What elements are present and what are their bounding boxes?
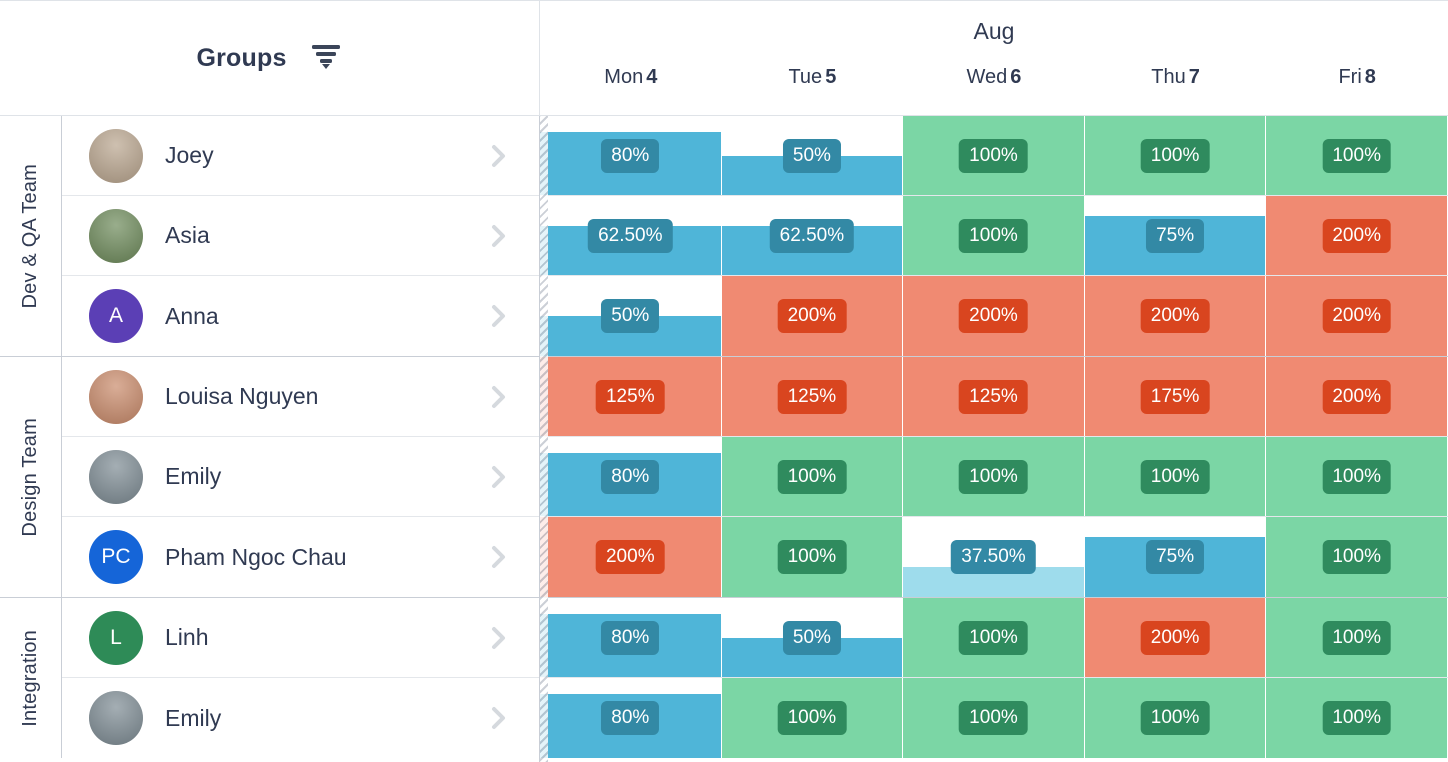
month-row: Aug (540, 1, 1448, 62)
workload-cell[interactable]: 75% (1085, 517, 1267, 597)
timeline-pane: 80%50%100%100%100%62.50%62.50%100%75%200… (540, 116, 1448, 762)
workload-cell[interactable]: 100% (903, 196, 1085, 275)
person-name: Louisa Nguyen (165, 383, 489, 410)
day-number: 8 (1365, 66, 1376, 88)
person-row[interactable]: Asia (62, 196, 539, 276)
person-name: Emily (165, 463, 489, 490)
workload-badge: 100% (959, 701, 1028, 735)
calendar-header: Groups Aug Mon4Tue5Wed6Thu7Fri8 (0, 0, 1448, 116)
day-number: 4 (646, 66, 657, 88)
timeline-group-integration: 80%50%100%200%100%80%100%100%100%100% (540, 598, 1448, 758)
workload-badge: 62.50% (770, 219, 854, 253)
avatar[interactable]: PC (89, 530, 143, 584)
person-name: Emily (165, 705, 489, 732)
person-row[interactable]: PCPham Ngoc Chau (62, 517, 539, 597)
workload-cell[interactable]: 50% (722, 598, 904, 677)
person-name: Anna (165, 303, 489, 330)
workload-cell[interactable]: 100% (903, 116, 1085, 195)
timeline-row: 80%100%100%100%100% (540, 437, 1448, 517)
group-design-team: Design TeamLouisa NguyenEmilyPCPham Ngoc… (0, 357, 539, 598)
workload-badge: 100% (1322, 139, 1391, 173)
group-name: Dev & QA Team (19, 164, 42, 309)
workload-badge: 200% (1322, 299, 1391, 333)
workload-cell[interactable]: 50% (540, 276, 722, 356)
workload-cell[interactable]: 100% (722, 517, 904, 597)
chevron-right-icon[interactable] (489, 544, 509, 570)
group-people: LLinhEmily (62, 598, 539, 758)
chevron-right-icon[interactable] (489, 384, 509, 410)
chevron-right-icon[interactable] (489, 464, 509, 490)
workload-cell[interactable]: 100% (722, 437, 904, 516)
avatar-initials: PC (101, 545, 130, 569)
month-label: Aug (974, 18, 1015, 45)
day-of-week: Tue (788, 66, 822, 88)
workload-cell[interactable]: 200% (540, 517, 722, 597)
person-row[interactable]: Emily (62, 437, 539, 517)
day-of-week: Mon (604, 66, 643, 88)
workload-badge: 175% (1141, 380, 1210, 414)
workload-cell[interactable]: 100% (1085, 678, 1267, 758)
workload-badge: 50% (783, 139, 841, 173)
workload-badge: 200% (1322, 219, 1391, 253)
page-title: Groups (196, 44, 286, 73)
workload-calendar: Groups Aug Mon4Tue5Wed6Thu7Fri8 Dev & QA… (0, 0, 1448, 762)
workload-cell[interactable]: 100% (903, 598, 1085, 677)
avatar[interactable]: L (89, 611, 143, 665)
workload-badge: 80% (601, 621, 659, 655)
group-label-integration[interactable]: Integration (0, 598, 62, 758)
workload-cell[interactable]: 100% (1266, 598, 1448, 677)
workload-badge: 200% (1141, 621, 1210, 655)
day-of-week: Fri (1338, 66, 1361, 88)
avatar[interactable] (89, 129, 143, 183)
workload-cell[interactable]: 80% (540, 678, 722, 758)
person-row[interactable]: AAnna (62, 276, 539, 356)
timeline-header: Aug Mon4Tue5Wed6Thu7Fri8 (540, 0, 1448, 115)
group-name: Design Team (19, 418, 42, 537)
chevron-right-icon[interactable] (489, 705, 509, 731)
group-people: Louisa NguyenEmilyPCPham Ngoc Chau (62, 357, 539, 597)
day-of-week: Thu (1151, 66, 1185, 88)
workload-badge: 80% (601, 460, 659, 494)
workload-badge: 80% (601, 139, 659, 173)
workload-badge: 200% (1322, 380, 1391, 414)
workload-badge: 125% (959, 380, 1028, 414)
timeline-group-dev-qa-team: 80%50%100%100%100%62.50%62.50%100%75%200… (540, 116, 1448, 357)
workload-cell[interactable]: 100% (1266, 437, 1448, 516)
workload-badge: 75% (1146, 540, 1204, 574)
workload-badge: 100% (959, 460, 1028, 494)
timeline-row: 200%100%37.50%75%100% (540, 517, 1448, 597)
timeline-row: 62.50%62.50%100%75%200% (540, 196, 1448, 276)
group-integration: IntegrationLLinhEmily (0, 598, 539, 758)
day-number: 7 (1189, 66, 1200, 88)
avatar[interactable] (89, 370, 143, 424)
day-of-week: Wed (967, 66, 1008, 88)
person-name: Joey (165, 142, 489, 169)
workload-cell[interactable]: 200% (1266, 276, 1448, 356)
day-number: 6 (1010, 66, 1021, 88)
workload-badge: 100% (959, 139, 1028, 173)
timeline-grid: 80%50%100%100%100%62.50%62.50%100%75%200… (540, 116, 1448, 758)
workload-cell[interactable]: 100% (1266, 517, 1448, 597)
workload-badge: 100% (1322, 540, 1391, 574)
workload-badge: 100% (778, 540, 847, 574)
timeline-row: 50%200%200%200%200% (540, 276, 1448, 356)
workload-badge: 200% (596, 540, 665, 574)
workload-cell[interactable]: 125% (722, 357, 904, 436)
person-row[interactable]: Joey (62, 116, 539, 196)
timeline-row: 80%50%100%200%100% (540, 598, 1448, 678)
person-name: Linh (165, 624, 489, 651)
workload-badge: 75% (1146, 219, 1204, 253)
workload-badge: 200% (1141, 299, 1210, 333)
person-row[interactable]: Louisa Nguyen (62, 357, 539, 437)
day-headers: Mon4Tue5Wed6Thu7Fri8 (540, 62, 1448, 115)
groups-header-cell: Groups (0, 0, 540, 115)
group-dev-qa-team: Dev & QA TeamJoeyAsiaAAnna (0, 116, 539, 357)
day-header-thu[interactable]: Thu7 (1085, 66, 1267, 89)
workload-badge: 100% (778, 701, 847, 735)
chevron-right-icon[interactable] (489, 303, 509, 329)
workload-badge: 62.50% (588, 219, 672, 253)
workload-badge: 100% (1141, 701, 1210, 735)
workload-cell[interactable]: 50% (722, 116, 904, 195)
timeline-row: 80%50%100%100%100% (540, 116, 1448, 196)
day-header-tue[interactable]: Tue5 (722, 66, 904, 89)
workload-cell[interactable]: 200% (1266, 196, 1448, 275)
workload-badge: 100% (1141, 460, 1210, 494)
workload-cell[interactable]: 80% (540, 437, 722, 516)
day-header-mon[interactable]: Mon4 (540, 66, 722, 89)
workload-badge: 100% (1322, 460, 1391, 494)
workload-cell[interactable]: 125% (540, 357, 722, 436)
timeline-row: 80%100%100%100%100% (540, 678, 1448, 758)
day-number: 5 (825, 66, 836, 88)
workload-cell[interactable]: 100% (903, 437, 1085, 516)
workload-badge: 200% (959, 299, 1028, 333)
workload-cell[interactable]: 100% (1266, 116, 1448, 195)
day-header-fri[interactable]: Fri8 (1266, 66, 1448, 89)
workload-badge: 50% (601, 299, 659, 333)
workload-cell[interactable]: 37.50% (903, 517, 1085, 597)
workload-cell[interactable]: 75% (1085, 196, 1267, 275)
workload-badge: 100% (778, 460, 847, 494)
workload-badge: 100% (959, 621, 1028, 655)
timeline-group-design-team: 125%125%125%175%200%80%100%100%100%100%2… (540, 357, 1448, 598)
calendar-body: Dev & QA TeamJoeyAsiaAAnnaDesign TeamLou… (0, 116, 1448, 762)
chevron-right-icon[interactable] (489, 143, 509, 169)
workload-cell[interactable]: 200% (1085, 598, 1267, 677)
workload-badge: 80% (601, 701, 659, 735)
group-label-dev-qa-team[interactable]: Dev & QA Team (0, 116, 62, 356)
person-row[interactable]: LLinh (62, 598, 539, 678)
workload-badge: 50% (783, 621, 841, 655)
workload-badge: 100% (1322, 701, 1391, 735)
avatar-initials: L (110, 626, 122, 650)
person-row[interactable]: Emily (62, 678, 539, 758)
workload-cell[interactable]: 62.50% (540, 196, 722, 275)
workload-cell[interactable]: 200% (1266, 357, 1448, 436)
workload-cell[interactable]: 100% (722, 678, 904, 758)
avatar[interactable] (89, 450, 143, 504)
group-label-design-team[interactable]: Design Team (0, 357, 62, 597)
avatar-initials: A (109, 304, 123, 328)
workload-cell[interactable]: 62.50% (722, 196, 904, 275)
chevron-right-icon[interactable] (489, 625, 509, 651)
person-name: Pham Ngoc Chau (165, 544, 489, 571)
timeline-row: 125%125%125%175%200% (540, 357, 1448, 437)
workload-cell[interactable]: 175% (1085, 357, 1267, 436)
workload-badge: 100% (1141, 139, 1210, 173)
groups-pane: Dev & QA TeamJoeyAsiaAAnnaDesign TeamLou… (0, 116, 540, 762)
filter-icon[interactable] (309, 41, 343, 76)
avatar[interactable] (89, 209, 143, 263)
workload-cell[interactable]: 200% (1085, 276, 1267, 356)
workload-badge: 37.50% (951, 540, 1035, 574)
workload-badge: 200% (778, 299, 847, 333)
avatar[interactable]: A (89, 289, 143, 343)
workload-badge: 100% (959, 219, 1028, 253)
group-name: Integration (19, 630, 42, 727)
workload-badge: 125% (778, 380, 847, 414)
avatar[interactable] (89, 691, 143, 745)
workload-cell[interactable]: 100% (903, 678, 1085, 758)
workload-cell[interactable]: 100% (1085, 116, 1267, 195)
workload-cell[interactable]: 100% (1266, 678, 1448, 758)
workload-badge: 125% (596, 380, 665, 414)
workload-cell[interactable]: 80% (540, 116, 722, 195)
workload-cell[interactable]: 200% (722, 276, 904, 356)
workload-cell[interactable]: 80% (540, 598, 722, 677)
workload-cell[interactable]: 125% (903, 357, 1085, 436)
workload-badge: 100% (1322, 621, 1391, 655)
workload-cell[interactable]: 200% (903, 276, 1085, 356)
workload-cell[interactable]: 100% (1085, 437, 1267, 516)
day-header-wed[interactable]: Wed6 (903, 66, 1085, 89)
person-name: Asia (165, 222, 489, 249)
chevron-right-icon[interactable] (489, 223, 509, 249)
group-people: JoeyAsiaAAnna (62, 116, 539, 356)
